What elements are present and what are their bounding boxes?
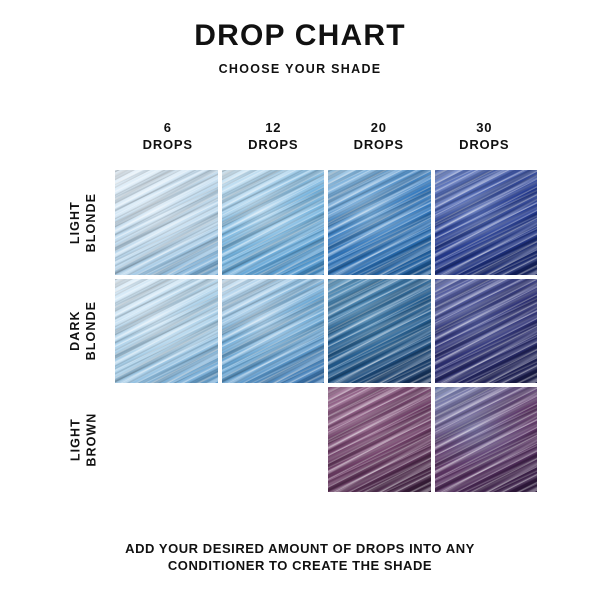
swatch-hair-strand-texture: [328, 170, 431, 275]
row-label-line1: LIGHT: [68, 193, 84, 252]
swatch-hair-strand-texture: [115, 279, 218, 384]
shade-swatch-grid: [115, 170, 537, 492]
swatch-hair-strand-texture: [328, 279, 431, 384]
swatch-light-blonde-12-drops[interactable]: [222, 170, 325, 275]
column-header-unit: DROPS: [221, 137, 327, 154]
drop-chart-page: DROP CHART CHOOSE YOUR SHADE 6 DROPS 12 …: [0, 0, 600, 600]
column-header-unit: DROPS: [326, 137, 432, 154]
swatch-hair-strand-texture: [222, 170, 325, 275]
swatch-hair-strand-texture: [435, 170, 538, 275]
swatch-light-blonde-30-drops[interactable]: [435, 170, 538, 275]
column-headers: 6 DROPS 12 DROPS 20 DROPS 30 DROPS: [115, 120, 537, 153]
column-header-number: 12: [221, 120, 327, 137]
swatch-dark-blonde-6-drops[interactable]: [115, 279, 218, 384]
swatch-dark-blonde-20-drops[interactable]: [328, 279, 431, 384]
swatch-dark-blonde-30-drops[interactable]: [435, 279, 538, 384]
swatch-hair-strand-texture: [222, 279, 325, 384]
page-subtitle: CHOOSE YOUR SHADE: [0, 62, 600, 76]
swatch-dark-blonde-12-drops[interactable]: [222, 279, 325, 384]
column-header-6-drops: 6 DROPS: [115, 120, 221, 153]
column-header-number: 6: [115, 120, 221, 137]
swatch-empty-light-brown-12-drops: [222, 387, 325, 492]
row-label-line1: LIGHT: [68, 413, 84, 467]
row-label-light-blonde: LIGHT BLONDE: [57, 170, 111, 275]
column-header-20-drops: 20 DROPS: [326, 120, 432, 153]
swatch-light-brown-30-drops[interactable]: [435, 387, 538, 492]
swatch-light-brown-20-drops[interactable]: [328, 387, 431, 492]
page-title: DROP CHART: [0, 20, 600, 52]
column-header-unit: DROPS: [115, 137, 221, 154]
row-label-light-brown: LIGHT BROWN: [57, 387, 111, 492]
row-label-line2: BLONDE: [84, 193, 100, 252]
page-header: DROP CHART CHOOSE YOUR SHADE: [0, 20, 600, 76]
column-header-number: 20: [326, 120, 432, 137]
row-label-dark-blonde: DARK BLONDE: [57, 279, 111, 384]
swatch-hair-strand-texture: [435, 279, 538, 384]
row-label-line2: BLONDE: [84, 301, 100, 360]
row-label-line1: DARK: [68, 301, 84, 360]
column-header-12-drops: 12 DROPS: [221, 120, 327, 153]
column-header-number: 30: [432, 120, 538, 137]
swatch-light-blonde-20-drops[interactable]: [328, 170, 431, 275]
row-label-line2: BROWN: [84, 413, 100, 467]
swatch-hair-strand-texture: [435, 387, 538, 492]
swatch-hair-strand-texture: [115, 170, 218, 275]
swatch-empty-light-brown-6-drops: [115, 387, 218, 492]
footer-instructions: ADD YOUR DESIRED AMOUNT OF DROPS INTO AN…: [90, 540, 510, 574]
column-header-30-drops: 30 DROPS: [432, 120, 538, 153]
column-header-unit: DROPS: [432, 137, 538, 154]
swatch-light-blonde-6-drops[interactable]: [115, 170, 218, 275]
swatch-hair-strand-texture: [328, 387, 431, 492]
